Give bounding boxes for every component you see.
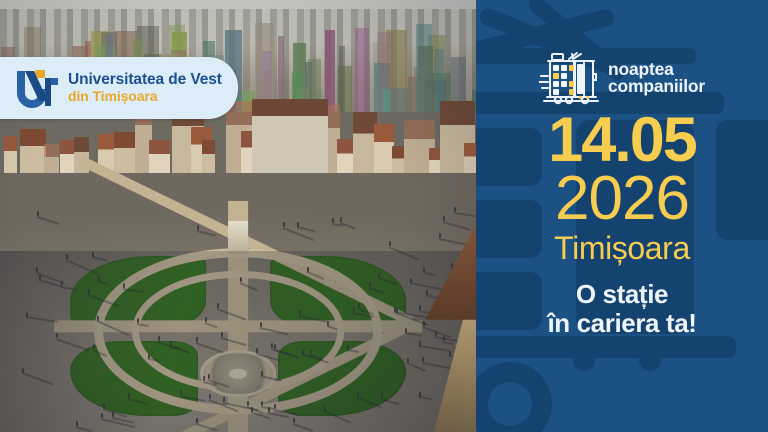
event-poster: Universitatea de Vest din Timișoara xyxy=(0,0,768,432)
info-panel: noaptea companiilor 14.05 2026 Timișoara… xyxy=(476,0,768,432)
event-city: Timișoara xyxy=(554,232,690,266)
noaptea-companiilor-wordmark: noaptea companiilor xyxy=(608,61,705,96)
event-date-year: 2026 xyxy=(555,168,689,230)
tagline-line1: O stație xyxy=(547,280,696,309)
event-tagline: O stație în cariera ta! xyxy=(547,280,696,338)
uvt-monogram-icon xyxy=(14,68,60,108)
tram-building-icon xyxy=(539,50,601,106)
event-date-day: 14.05 xyxy=(548,112,696,170)
noaptea-companiilor-logo[interactable]: noaptea companiilor xyxy=(539,50,705,106)
uvt-logo-badge[interactable]: Universitatea de Vest din Timișoara xyxy=(0,57,238,119)
uvt-wordmark: Universitatea de Vest din Timișoara xyxy=(68,72,222,103)
uvt-line2: din Timișoara xyxy=(68,89,222,104)
brand-line2: companiilor xyxy=(608,78,705,96)
tagline-line2: în cariera ta! xyxy=(547,309,696,338)
uvt-line1: Universitatea de Vest xyxy=(68,72,222,88)
